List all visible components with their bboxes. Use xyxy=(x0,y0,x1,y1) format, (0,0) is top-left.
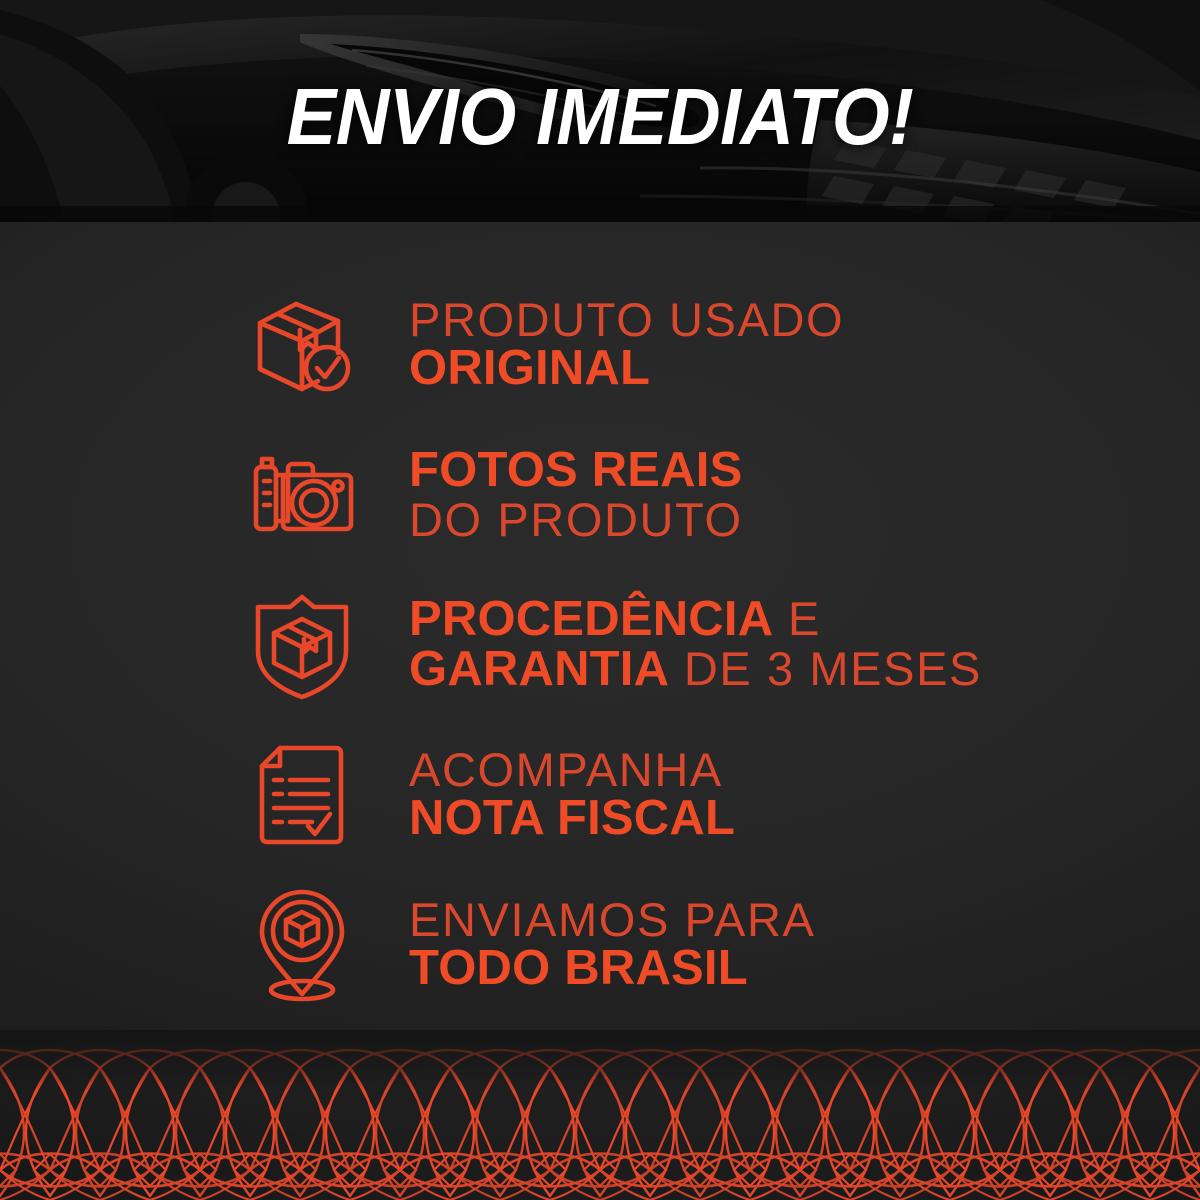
feature-item-produto-original: PRODUTO USADO ORIGINAL xyxy=(0,270,1200,420)
feature-line-2-bold: GARANTIA xyxy=(409,642,669,696)
feature-text: PROCEDÊNCIA E GARANTIA DE 3 MESES xyxy=(409,595,982,695)
feature-line-1: PROCEDÊNCIA E xyxy=(409,595,982,645)
geometric-petal-border-pattern xyxy=(0,1030,1200,1200)
invoice-document-check-icon xyxy=(243,742,361,848)
feature-line-2: DO PRODUTO xyxy=(409,496,743,544)
feature-line-1: ACOMPANHA xyxy=(409,746,735,794)
feature-list: PRODUTO USADO ORIGINAL xyxy=(0,222,1200,1052)
feature-text: PRODUTO USADO ORIGINAL xyxy=(409,296,844,394)
feature-line-1: FOTOS REAIS xyxy=(409,446,743,496)
feature-text: ENVIAMOS PARA TODO BRASIL xyxy=(409,896,815,994)
shield-box-icon xyxy=(243,589,361,701)
feature-line-2: TODO BRASIL xyxy=(409,944,815,994)
feature-item-procedencia-garantia: PROCEDÊNCIA E GARANTIA DE 3 MESES xyxy=(0,570,1200,720)
location-pin-box-icon xyxy=(243,886,361,1004)
feature-item-nota-fiscal: ACOMPANHA NOTA FISCAL xyxy=(0,720,1200,870)
header-banner: ENVIO IMEDIATO! xyxy=(0,0,1200,222)
feature-line-1-bold: PROCEDÊNCIA xyxy=(409,592,773,646)
camera-icon xyxy=(243,449,361,541)
promo-poster: ENVIO IMEDIATO! PRODUTO USADO xyxy=(0,0,1200,1200)
feature-line-1: PRODUTO USADO xyxy=(409,296,844,344)
feature-line-2: NOTA FISCAL xyxy=(409,794,735,844)
feature-text: ACOMPANHA NOTA FISCAL xyxy=(409,746,735,844)
feature-text: FOTOS REAIS DO PRODUTO xyxy=(409,446,743,544)
feature-item-todo-brasil: ENVIAMOS PARA TODO BRASIL xyxy=(0,870,1200,1020)
feature-line-1-light: E xyxy=(773,592,821,645)
page-title: ENVIO IMEDIATO! xyxy=(0,0,1200,222)
package-box-check-icon xyxy=(243,293,361,397)
feature-line-2: GARANTIA DE 3 MESES xyxy=(409,645,982,695)
ornament-svg xyxy=(0,1030,1200,1200)
feature-line-1: ENVIAMOS PARA xyxy=(409,896,815,944)
feature-line-2: ORIGINAL xyxy=(409,344,844,394)
feature-item-fotos-reais: FOTOS REAIS DO PRODUTO xyxy=(0,420,1200,570)
page-title-text: ENVIO IMEDIATO! xyxy=(287,71,914,163)
feature-line-2-light: DE 3 MESES xyxy=(669,642,982,695)
